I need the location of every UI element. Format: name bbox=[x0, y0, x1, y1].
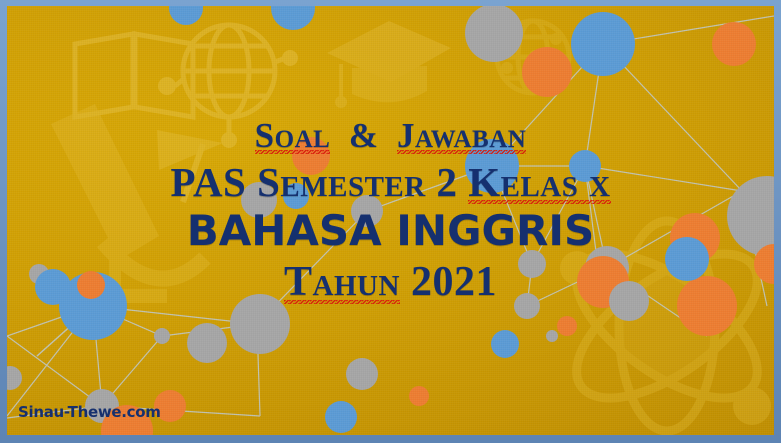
watermark: Sinau-Thewe.com bbox=[18, 403, 161, 421]
title-line-4-part-b: 2021 bbox=[411, 259, 497, 305]
title-line-1-word-soal: Soal bbox=[255, 118, 331, 153]
title-line-1: Soal & Jawaban bbox=[7, 118, 774, 153]
title-line-4: Tahun 2021 bbox=[7, 261, 774, 303]
title-line-1-word-jawaban: Jawaban bbox=[397, 118, 526, 153]
title-line-2-part-a: PAS Semester 2 bbox=[170, 159, 457, 205]
title-line-4-gap bbox=[400, 259, 411, 305]
banner: Soal & Jawaban PAS Semester 2 Kelas x BA… bbox=[0, 0, 781, 443]
title-line-1-ampersand-spacer bbox=[330, 116, 349, 155]
banner-plate: Soal & Jawaban PAS Semester 2 Kelas x BA… bbox=[7, 6, 774, 435]
title-line-1-gap bbox=[378, 116, 397, 155]
title-line-2: PAS Semester 2 Kelas x bbox=[7, 162, 774, 203]
title-line-2-gap bbox=[457, 159, 468, 205]
title-line-4-part-a: Tahun bbox=[284, 261, 400, 303]
title-line-1-ampersand: & bbox=[349, 116, 379, 155]
title-line-3: BAHASA INGGRIS bbox=[7, 210, 774, 252]
title-block: Soal & Jawaban PAS Semester 2 Kelas x BA… bbox=[7, 118, 774, 303]
title-line-2-part-b: Kelas x bbox=[468, 162, 610, 203]
